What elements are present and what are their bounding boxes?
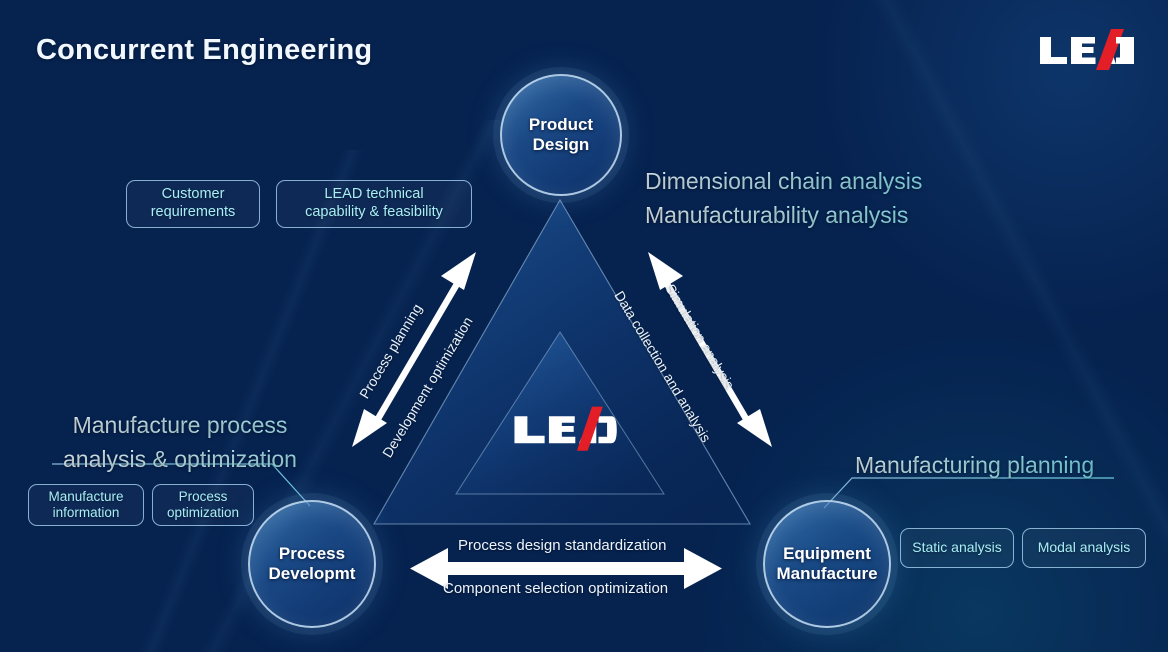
callout-line: Manufacturability analysis	[645, 198, 922, 232]
pill-line1: LEAD technical	[305, 186, 443, 204]
arrow-label-process-design-standardization: Process design standardization	[458, 537, 666, 554]
node-label-line1: Equipment	[776, 544, 877, 564]
callout-line: Manufacture process	[50, 408, 310, 442]
node-product-design[interactable]: Product Design	[500, 74, 622, 196]
pill-static-analysis[interactable]: Static analysis	[900, 528, 1014, 568]
callout-line: Dimensional chain analysis	[645, 164, 922, 198]
node-process-development[interactable]: Process Developmt	[248, 500, 376, 628]
lead-logo	[1036, 22, 1136, 74]
pill-line1: Modal analysis	[1038, 539, 1131, 556]
callout-equipment-manufacture: Manufacturing planning	[855, 448, 1094, 482]
callout-line: analysis & optimization	[50, 442, 310, 476]
pill-line2: capability & feasibility	[305, 204, 443, 222]
pill-process-optimization[interactable]: Process optimization	[152, 484, 254, 526]
node-label-line2: Manufacture	[776, 564, 877, 584]
pill-manufacture-information[interactable]: Manufacture information	[28, 484, 144, 526]
node-label-line2: Design	[529, 135, 593, 155]
callout-product-design: Dimensional chain analysis Manufacturabi…	[645, 164, 922, 232]
node-equipment-manufacture[interactable]: Equipment Manufacture	[763, 500, 891, 628]
node-label-line2: Developmt	[269, 564, 356, 584]
pill-line2: requirements	[151, 204, 236, 222]
pill-lead-technical-capability[interactable]: LEAD technical capability & feasibility	[276, 180, 472, 228]
pill-customer-requirements[interactable]: Customer requirements	[126, 180, 260, 228]
lead-logo-center	[510, 398, 618, 454]
pill-line1: Customer	[151, 186, 236, 204]
node-label-line1: Product	[529, 115, 593, 135]
leader-line-right	[824, 478, 1114, 508]
callout-line: Manufacturing planning	[855, 448, 1094, 482]
pill-modal-analysis[interactable]: Modal analysis	[1022, 528, 1146, 568]
arrow-label-component-selection-optimization: Component selection optimization	[443, 580, 668, 597]
pill-line2: optimization	[167, 505, 239, 521]
node-label-line1: Process	[269, 544, 356, 564]
pill-line1: Manufacture	[48, 489, 123, 505]
pill-line1: Static analysis	[912, 539, 1001, 556]
pill-line2: information	[48, 505, 123, 521]
slide-canvas: Concurrent Engineering Product	[0, 0, 1168, 652]
page-title: Concurrent Engineering	[36, 34, 372, 67]
pill-line1: Process	[167, 489, 239, 505]
callout-process-development: Manufacture process analysis & optimizat…	[50, 408, 310, 476]
